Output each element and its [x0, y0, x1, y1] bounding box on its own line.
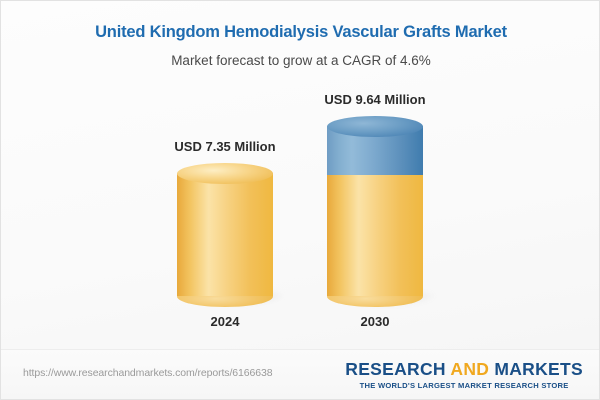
bar-body-yellow-2024	[177, 173, 273, 296]
chart-card: United Kingdom Hemodialysis Vascular Gra…	[0, 0, 600, 400]
logo-wordmark: RESEARCH AND MARKETS	[345, 359, 583, 380]
research-and-markets-logo[interactable]: RESEARCH AND MARKETS THE WORLD'S LARGEST…	[345, 359, 583, 390]
logo-text-markets: MARKETS	[489, 359, 583, 379]
bar-body-yellow-2030	[327, 175, 423, 296]
chart-subtitle: Market forecast to grow at a CAGR of 4.6…	[1, 53, 600, 68]
logo-text-and: AND	[450, 359, 489, 379]
bar-year-label-2030: 2030	[275, 314, 475, 329]
bar-top-ellipse-2030	[327, 116, 423, 137]
footer: https://www.researchandmarkets.com/repor…	[1, 349, 600, 400]
bar-top-ellipse-2024	[177, 163, 273, 184]
chart-plot-area: United Kingdom Hemodialysis Vascular Gra…	[1, 1, 600, 349]
bar-value-label-2030: USD 9.64 Million	[275, 92, 475, 107]
logo-tagline: THE WORLD'S LARGEST MARKET RESEARCH STOR…	[345, 381, 583, 390]
report-url[interactable]: https://www.researchandmarkets.com/repor…	[23, 367, 272, 379]
bar-2030[interactable]: USD 9.64 Million 2030	[327, 1, 423, 349]
bar-2024[interactable]: USD 7.35 Million 2024	[177, 1, 273, 349]
chart-title: United Kingdom Hemodialysis Vascular Gra…	[1, 23, 600, 42]
bar-value-label-2024: USD 7.35 Million	[125, 139, 325, 154]
logo-text-research: RESEARCH	[345, 359, 450, 379]
